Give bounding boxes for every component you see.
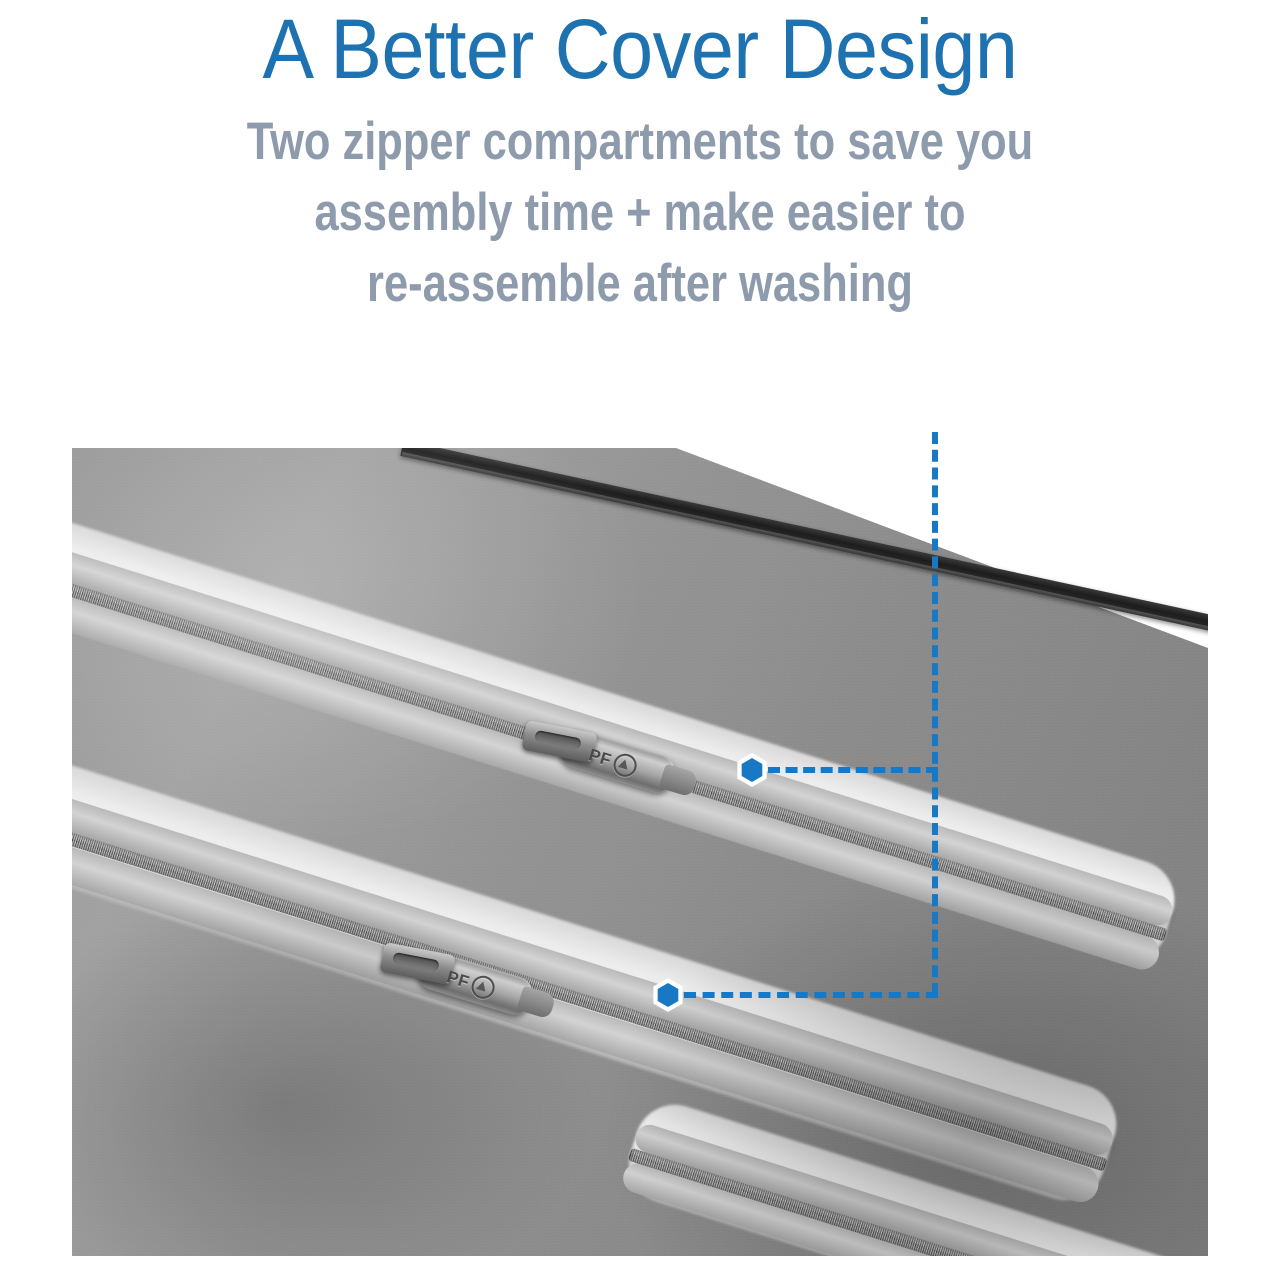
shadow-bottom-left bbox=[72, 896, 592, 1256]
product-photo: PF PF bbox=[72, 448, 1208, 1256]
lower-pull-brand-text: PF bbox=[444, 967, 472, 993]
page-title: A Better Cover Design bbox=[51, 0, 1229, 92]
subtitle-line-3: re-assemble after washing bbox=[115, 248, 1165, 319]
headline-block: A Better Cover Design Two zipper compart… bbox=[0, 0, 1280, 319]
product-feature-graphic: A Better Cover Design Two zipper compart… bbox=[0, 0, 1280, 1280]
subtitle-line-2: assembly time + make easier to bbox=[115, 177, 1165, 248]
subtitle-line-1: Two zipper compartments to save you bbox=[115, 106, 1165, 177]
highlight-top-left bbox=[72, 448, 652, 848]
shadow-bottom-right bbox=[598, 856, 1208, 1256]
upper-pull-brand-text: PF bbox=[586, 745, 614, 771]
subtitle: Two zipper compartments to save you asse… bbox=[115, 92, 1165, 319]
